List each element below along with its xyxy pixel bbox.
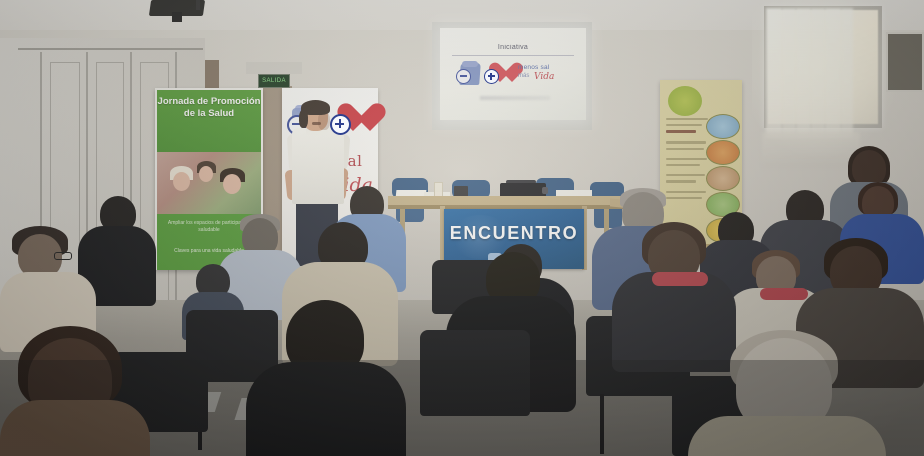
plus-badge-icon [484,69,499,84]
text-line [666,174,705,176]
eyeglasses-icon [54,252,72,260]
photo-scene: SALIDA Iniciativa menos sal más Vida Jor… [0,0,924,456]
nutrition-banner-text [666,118,710,238]
text-line [666,164,700,166]
presenter-moustache [312,122,321,125]
presenter-hair-side [299,110,308,128]
photo-person-face [223,174,241,194]
green-banner-header: Jornada de Promoción de la Salud [157,90,261,152]
text-line [666,148,704,150]
salt-shaker-cap [462,61,478,67]
slide-title: Iniciativa [440,44,586,51]
food-group-icon [706,166,740,191]
slide-logo-line2: más [518,73,529,79]
nutrition-banner-heading [706,88,738,104]
window-glow [752,0,902,160]
panel-trim [18,48,203,50]
exit-sign-label: SALIDA [262,78,286,84]
text-line [666,141,706,143]
audience-torso [612,272,736,372]
encuentro-banner-text: ENCUENTRO [444,223,584,244]
wall-plaque [886,32,924,92]
text-line [666,197,702,199]
green-banner-photo [157,152,261,214]
front-table [388,196,624,205]
audience-scarf [760,288,808,300]
minus-badge-icon [456,69,471,84]
text-line [666,191,706,193]
exit-sign-plate [246,62,302,74]
green-banner-title: Jornada de Promoción de la Salud [157,96,261,120]
slide-divider [452,55,574,56]
projector-lens-icon [542,187,548,194]
photo-person-face [199,166,213,182]
projector-mount-body [172,12,182,22]
audience-scarf [652,272,708,286]
slide-logo-line1: menos sal [518,64,549,71]
plus-badge-icon [330,114,351,135]
food-group-icon [706,140,740,165]
floor-shadow [0,360,924,456]
photo-person-face [173,172,190,191]
slide-logo: menos sal más Vida [456,60,572,88]
text-line [666,180,696,182]
text-line [666,124,702,126]
nutrition-banner-logo [668,86,702,116]
text-heading-line [666,130,696,133]
text-line [666,118,708,120]
food-group-icon [706,114,740,139]
audience-head [852,150,886,186]
projector-mount-rod [196,0,200,10]
slide-logo-line3: Vida [534,72,554,82]
exit-sign: SALIDA [258,74,290,88]
presenter-shirt [292,128,344,204]
text-line [666,158,707,160]
slide-footer-text [480,96,550,100]
